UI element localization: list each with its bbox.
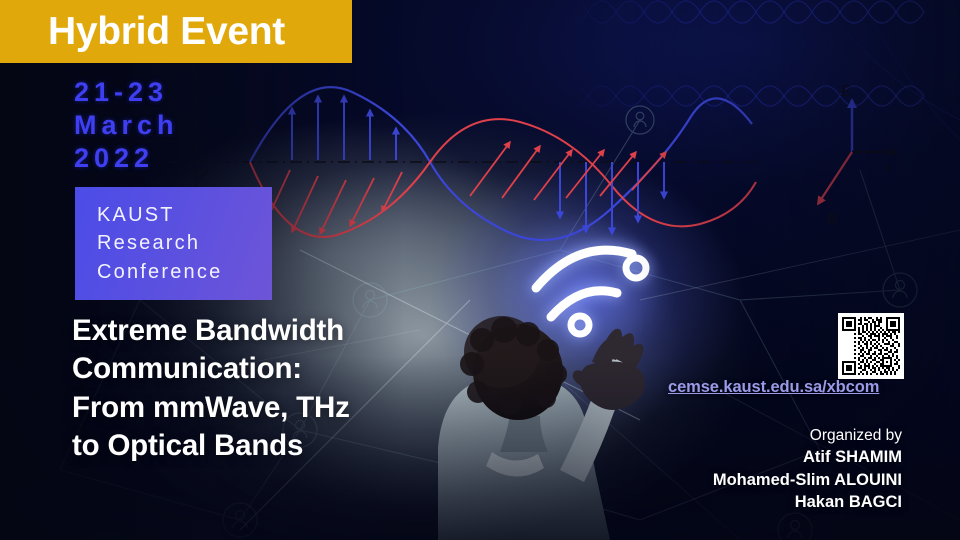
title-line-2: Communication: bbox=[72, 350, 472, 388]
event-date-year: 2022 bbox=[74, 142, 179, 175]
page-title: Extreme Bandwidth Communication: From mm… bbox=[72, 312, 472, 465]
hybrid-event-banner: Hybrid Event bbox=[0, 0, 352, 63]
organizers-block: Organized by Atif SHAMIM Mohamed-Slim AL… bbox=[713, 426, 902, 513]
logo-line-kaust: KAUST bbox=[97, 201, 272, 229]
hybrid-event-label: Hybrid Event bbox=[48, 10, 285, 54]
logo-line-conference: Conference bbox=[97, 258, 272, 286]
event-date: 21-23 March 2022 bbox=[74, 76, 179, 175]
logo-line-research: Research bbox=[97, 229, 272, 257]
event-date-days: 21-23 bbox=[74, 76, 179, 109]
organizer-name: Mohamed-Slim ALOUINI bbox=[713, 469, 902, 491]
qr-code[interactable] bbox=[838, 313, 904, 379]
organizer-name: Atif SHAMIM bbox=[713, 446, 902, 468]
title-line-4: to Optical Bands bbox=[72, 427, 472, 465]
organizer-name: Hakan BAGCI bbox=[713, 491, 902, 513]
qr-code-image bbox=[842, 317, 900, 375]
kaust-research-conference-logo: KAUST Research Conference bbox=[75, 187, 272, 300]
conference-poster: E v B x Hybrid Event 21-23 March 2022 KA… bbox=[0, 0, 960, 540]
event-url-link[interactable]: cemse.kaust.edu.sa/xbcom bbox=[668, 378, 879, 397]
title-line-1: Extreme Bandwidth bbox=[72, 312, 472, 350]
title-line-3: From mmWave, THz bbox=[72, 389, 472, 427]
event-date-month: March bbox=[74, 109, 179, 142]
organized-by-label: Organized by bbox=[713, 426, 902, 446]
